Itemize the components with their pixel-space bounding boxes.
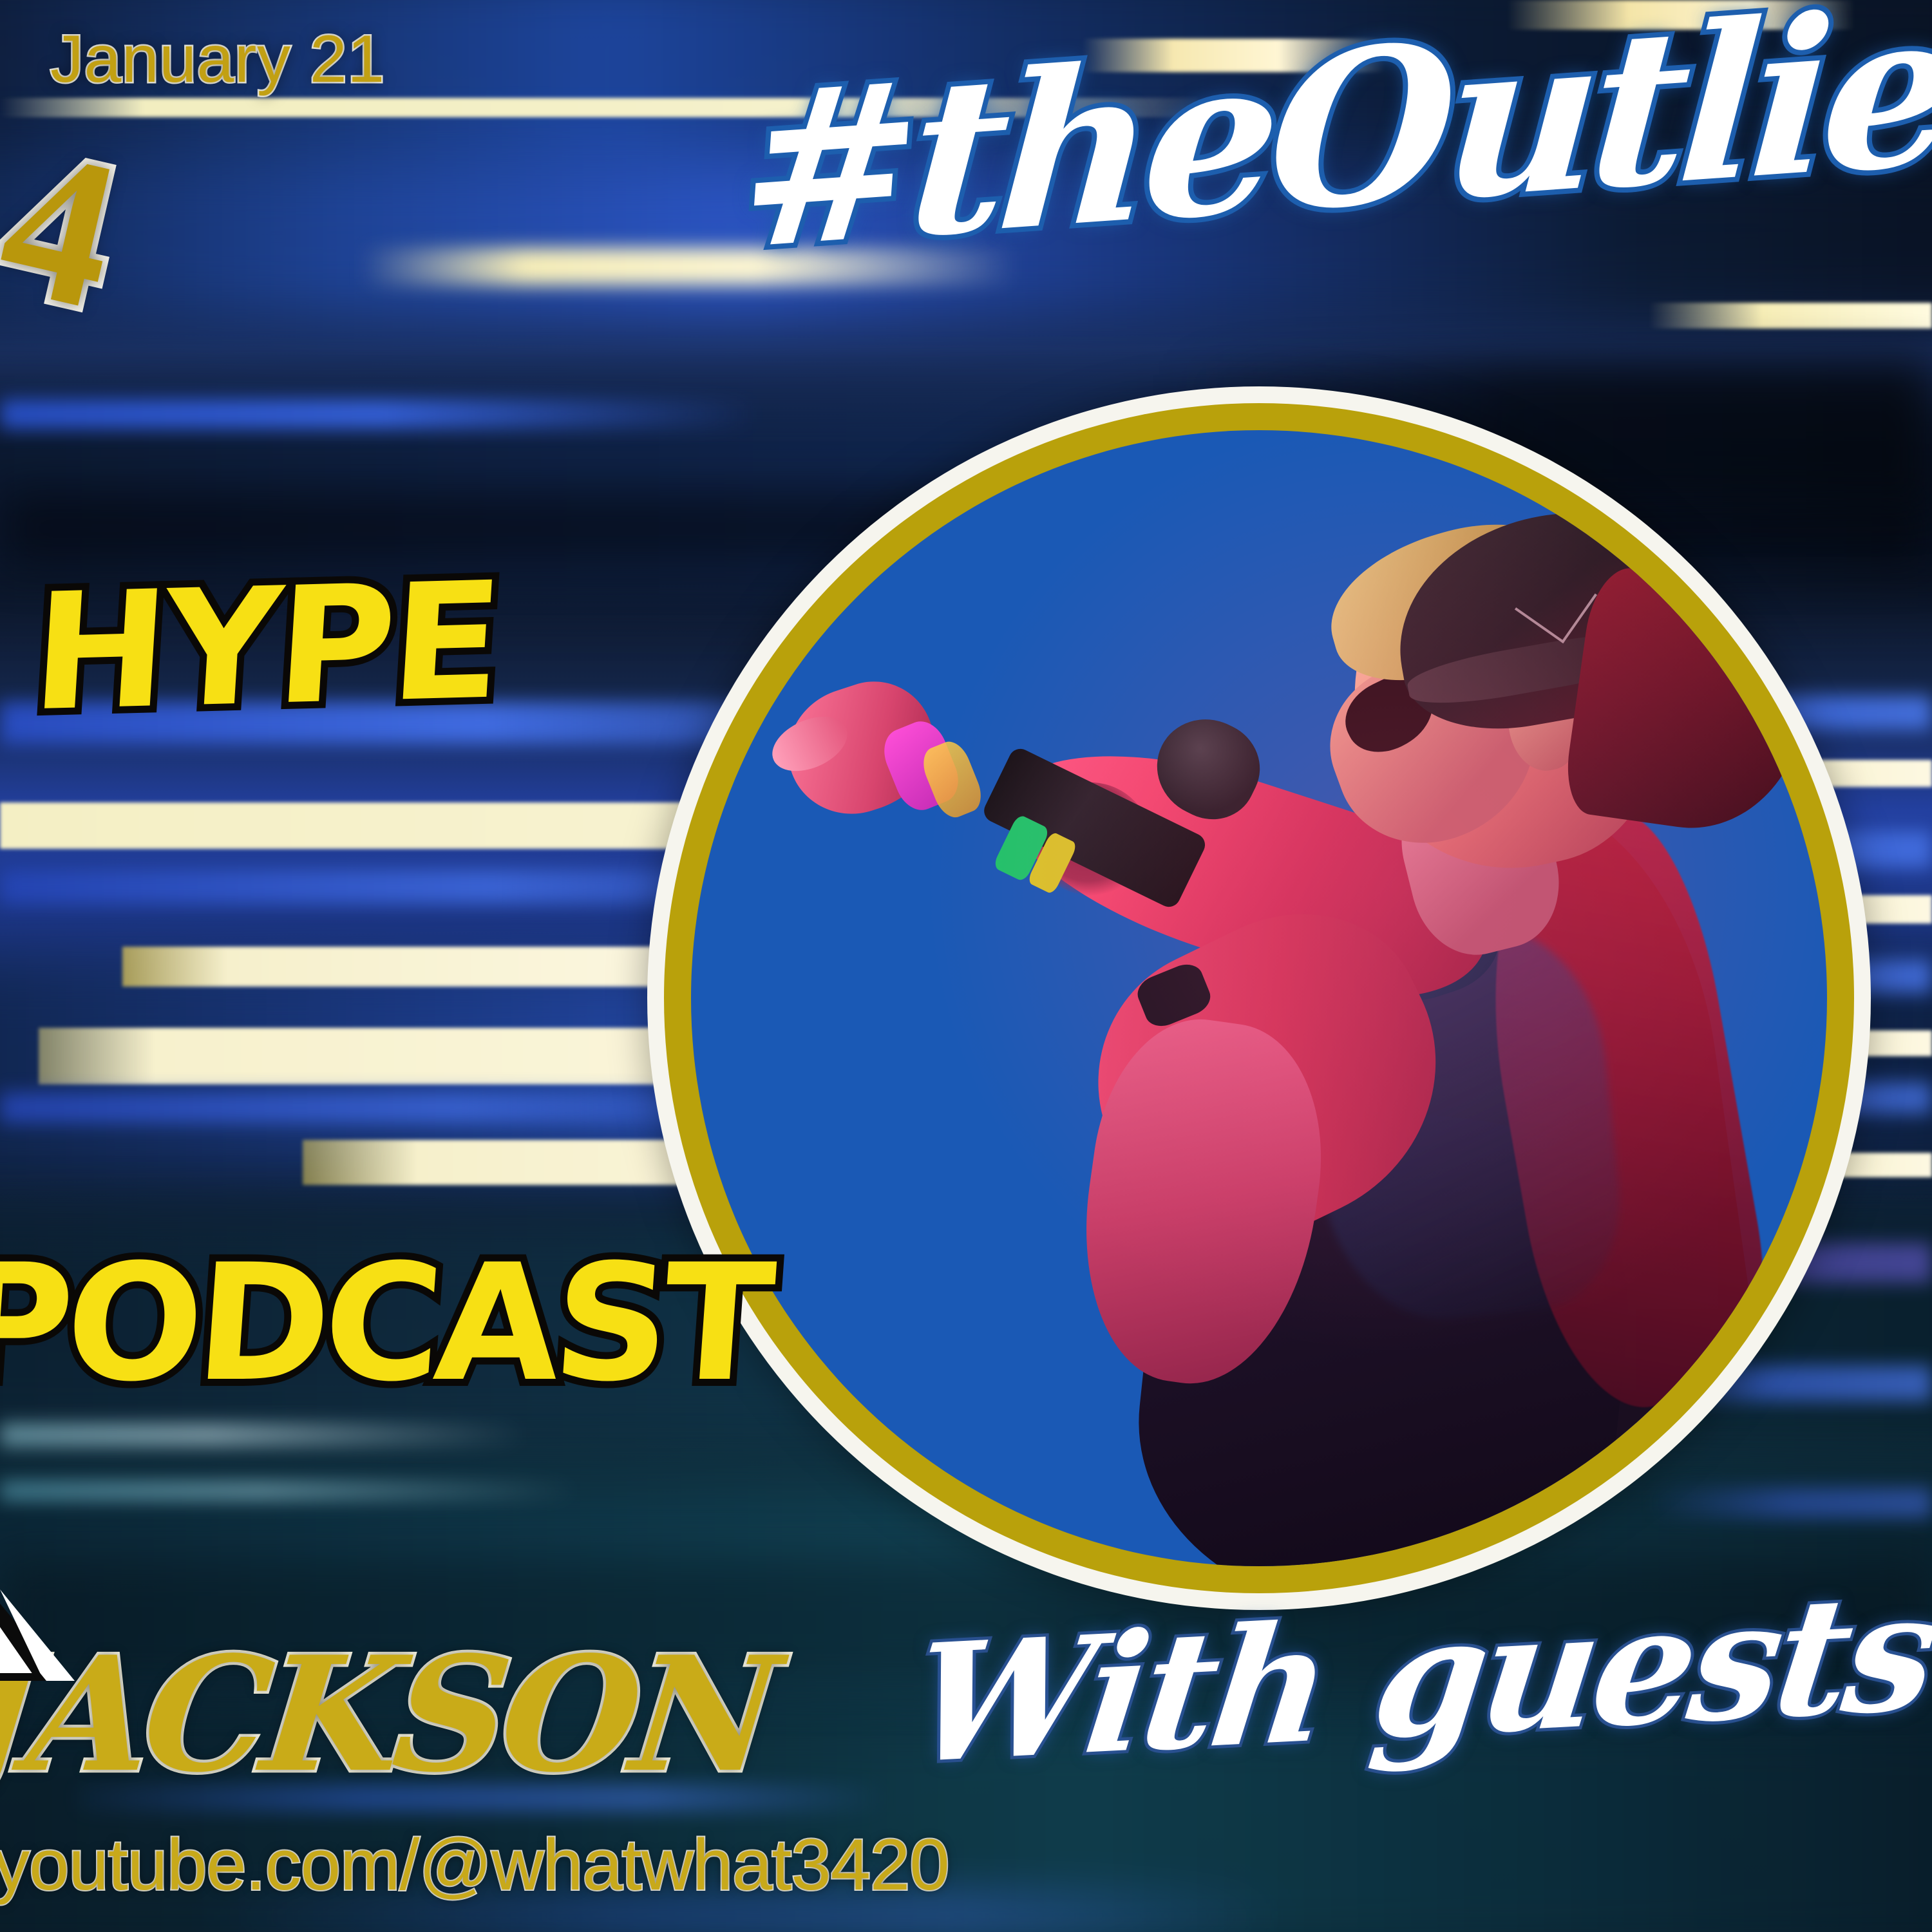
podcast-episode-poster: January 21 4 HYPE PODCAST #theOutlier Wi… — [0, 0, 1932, 1932]
chevron-mark-icon — [0, 1520, 135, 1694]
guest-portrait-circle — [647, 386, 1871, 1610]
episode-date-label: January 21 — [50, 26, 385, 93]
hype-label: HYPE — [28, 561, 503, 734]
podcast-label: PODCAST — [0, 1243, 773, 1404]
with-guests-label: With guests — [905, 1570, 1932, 1786]
youtube-channel-url[interactable]: .youtube.com/@whatwhat3420 — [0, 1829, 949, 1901]
portrait-photo — [691, 430, 1827, 1566]
